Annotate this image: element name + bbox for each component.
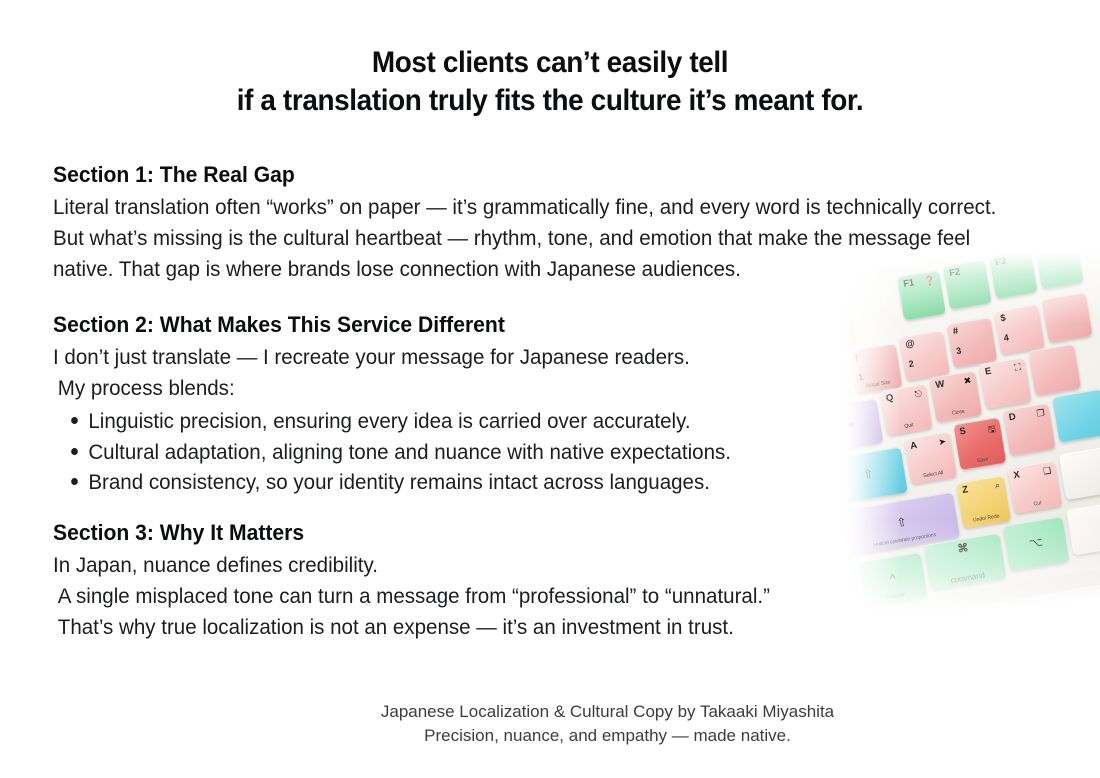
list-item: Linguistic precision, ensuring every ide… [53, 406, 1008, 437]
section-2-paragraph-2: My process blends: [53, 373, 1008, 404]
process-list: Linguistic precision, ensuring every ide… [53, 406, 1053, 498]
footer-line-1: Japanese Localization & Cultural Copy by… [140, 700, 1075, 724]
bullet-icon [71, 478, 78, 485]
slide-canvas: Most clients can’t easily tell if a tran… [0, 0, 1100, 778]
section-3: Section 3: Why It Matters In Japan, nuan… [53, 518, 1053, 643]
section-2-heading: Section 2: What Makes This Service Diffe… [53, 310, 1013, 340]
section-3-heading: Section 3: Why It Matters [53, 518, 1013, 548]
title-line-2: if a translation truly fits the culture … [39, 82, 1062, 120]
section-1-paragraph: Literal translation often “works” on pap… [53, 192, 1008, 285]
section-3-paragraph-3: That’s why true localization is not an e… [53, 612, 1008, 643]
body-content: Section 1: The Real Gap Literal translat… [53, 160, 1053, 643]
list-item: Brand consistency, so your identity rema… [53, 467, 1008, 498]
section-2-paragraph: I don’t just translate — I recreate your… [53, 342, 1008, 373]
spacer-2 [53, 498, 1053, 518]
section-3-paragraph: In Japan, nuance defines credibility. [53, 550, 1008, 581]
section-1-heading: Section 1: The Real Gap [53, 160, 1013, 190]
bullet-icon [71, 417, 78, 424]
section-1: Section 1: The Real Gap Literal translat… [53, 160, 1053, 285]
list-item-label: Brand consistency, so your identity rema… [88, 470, 710, 494]
section-3-paragraph-2: A single misplaced tone can turn a messa… [53, 581, 1008, 612]
title-line-1: Most clients can’t easily tell [39, 44, 1062, 82]
section-2: Section 2: What Makes This Service Diffe… [53, 310, 1053, 498]
list-item-label: Cultural adaptation, aligning tone and n… [88, 440, 731, 464]
bullet-icon [71, 448, 78, 455]
page-title: Most clients can’t easily tell if a tran… [0, 44, 1100, 120]
footer: Japanese Localization & Cultural Copy by… [0, 700, 1075, 748]
footer-line-2: Precision, nuance, and empathy — made na… [140, 724, 1075, 748]
list-item: Cultural adaptation, aligning tone and n… [53, 437, 1008, 468]
list-item-label: Linguistic precision, ensuring every ide… [88, 409, 690, 433]
key-space [1066, 501, 1100, 556]
key-c [1059, 446, 1100, 500]
spacer-1 [53, 285, 1053, 310]
key-f [1052, 389, 1100, 443]
